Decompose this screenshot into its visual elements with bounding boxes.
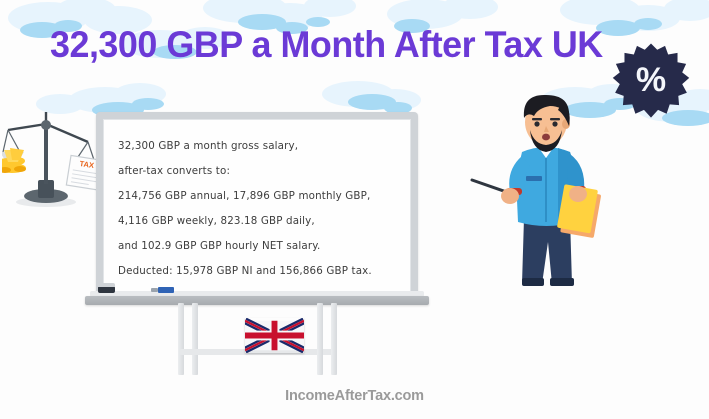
teacher-character: [466, 92, 626, 288]
whiteboard: 32,300 GBP a month gross salary, after-t…: [96, 112, 418, 300]
marker-icon: [158, 287, 174, 293]
stand-leg: [178, 303, 184, 375]
board-line-6: Deducted: 15,978 GBP NI and 156,866 GBP …: [118, 259, 404, 284]
poster-canvas: 32,300 GBP a Month After Tax UK %: [0, 0, 709, 419]
page-title: 32,300 GBP a Month After Tax UK: [50, 24, 632, 66]
board-line-4: 4,116 GBP weekly, 823.18 GBP daily,: [118, 209, 404, 234]
stand-leg: [331, 303, 337, 375]
balance-scales: TAX: [2, 104, 106, 208]
board-line-1: 32,300 GBP a month gross salary,: [118, 134, 404, 159]
union-jack-flag: [245, 318, 304, 353]
site-footer-logo: IncomeAfterTax.com: [0, 388, 709, 404]
eraser-icon: [98, 286, 115, 293]
board-line-3: 214,756 GBP annual, 17,896 GBP monthly G…: [118, 184, 404, 209]
stand-leg: [317, 303, 323, 375]
board-line-5: and 102.9 GBP GBP hourly NET salary.: [118, 234, 404, 259]
whiteboard-text-block: 32,300 GBP a month gross salary, after-t…: [118, 134, 404, 284]
stand-leg: [192, 303, 198, 375]
board-line-2: after-tax converts to:: [118, 159, 404, 184]
